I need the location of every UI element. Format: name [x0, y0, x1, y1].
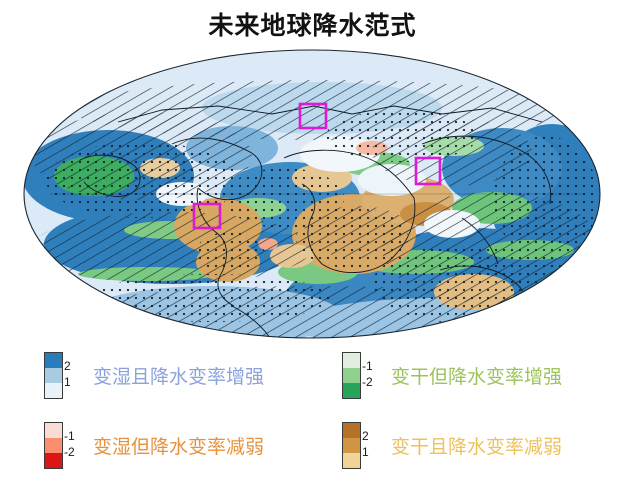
legend-label: 变干且降水变率减弱 — [391, 432, 562, 459]
world-map — [22, 48, 602, 344]
swatch — [45, 368, 62, 383]
tick-high: 2 — [64, 361, 71, 372]
legend-label: 变湿且降水变率增强 — [93, 362, 264, 389]
tick-low: -2 — [64, 447, 75, 458]
swatch — [343, 383, 360, 398]
swatch — [45, 453, 62, 468]
swatch — [45, 353, 62, 368]
colorbar-green — [342, 352, 361, 399]
swatch — [343, 453, 360, 468]
colorbar-ticks: 2 1 — [362, 422, 379, 469]
tick-high: -1 — [362, 361, 373, 372]
colorbar-ticks: -1 -2 — [362, 352, 379, 399]
colorbar-blue — [44, 352, 63, 399]
swatch — [343, 438, 360, 453]
swatch — [45, 423, 62, 438]
tick-low: -2 — [362, 377, 373, 388]
swatch — [343, 353, 360, 368]
map-svg — [22, 48, 602, 344]
colorbar-ticks: 2 1 — [64, 352, 81, 399]
colorbar-brown — [342, 422, 361, 469]
legend-entry-drier-less-variable: 2 1 变干且降水变率减弱 — [342, 422, 562, 469]
legend-entry-wetter-more-variable: 2 1 变湿且降水变率增强 — [44, 352, 264, 399]
legend: 2 1 变湿且降水变率增强 -1 -2 变干但降水变率增强 -1 -2 变湿但降… — [0, 352, 625, 502]
legend-label: 变干但降水变率增强 — [391, 362, 562, 389]
tick-low: 1 — [64, 377, 71, 388]
tick-high: -1 — [64, 431, 75, 442]
swatch — [343, 368, 360, 383]
swatch — [45, 438, 62, 453]
colorbar-ticks: -1 -2 — [64, 422, 81, 469]
swatch — [343, 423, 360, 438]
tick-low: 1 — [362, 447, 369, 458]
colorbar-red — [44, 422, 63, 469]
tick-high: 2 — [362, 431, 369, 442]
legend-entry-wetter-less-variable: -1 -2 变湿但降水变率减弱 — [44, 422, 264, 469]
legend-entry-drier-more-variable: -1 -2 变干但降水变率增强 — [342, 352, 562, 399]
legend-label: 变湿但降水变率减弱 — [93, 432, 264, 459]
swatch — [45, 383, 62, 398]
page-title: 未来地球降水范式 — [0, 6, 625, 42]
